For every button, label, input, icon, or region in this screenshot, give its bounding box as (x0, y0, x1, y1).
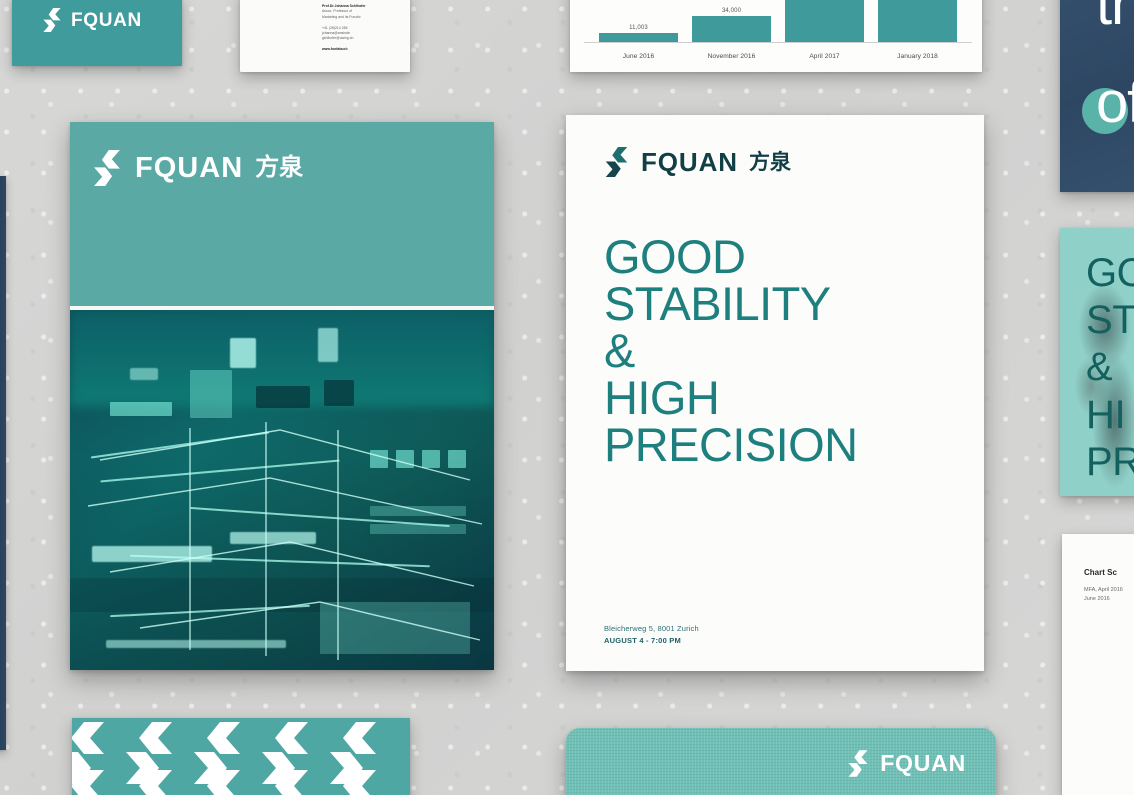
poster-footer: Bleicherweg 5, 8001 Zurich AUGUST 4 - 7:… (604, 624, 699, 645)
poster-headline: GOOD STABILITY & HIGH PRECISION (604, 233, 960, 468)
event-poster[interactable]: FQUAN 方泉 GOOD STABILITY & HIGH PRECISION… (566, 115, 984, 671)
chart-sheet-title: Chart Sc (1084, 568, 1117, 577)
double-chevron-logo-mark (42, 8, 62, 32)
double-chevron-logo-mark (847, 750, 869, 777)
business-card-front[interactable]: FQUAN (12, 0, 182, 66)
bar-chart-card[interactable]: 11,00334,000 June 2016November 2016April… (570, 0, 982, 72)
navy-text-line-1: th (1096, 0, 1134, 31)
chart-bar (878, 0, 956, 42)
logo-lockup: FQUAN 方泉 (604, 147, 791, 177)
card-heading: Technology Ltd. (258, 0, 310, 1)
logo-wordmark: FQUAN (135, 154, 243, 183)
chart-sheet-subtitle: MFA, April 2016 June 2016 (1084, 586, 1123, 605)
chart-category-label: January 2018 (878, 53, 956, 60)
chart-sheet-cropped[interactable]: Chart Sc MFA, April 2016 June 2016 (1062, 534, 1134, 795)
navy-text-line-2: of (1096, 76, 1134, 129)
chart-bar (692, 16, 770, 42)
brochure-cover[interactable]: FQUAN 方泉 (70, 122, 494, 670)
logo-wordmark: FQUAN (880, 752, 966, 775)
chart-plot-area: 11,00334,000 (592, 0, 964, 42)
logo-wordmark-cn: 方泉 (255, 156, 303, 180)
chart-bar-value-label: 34,000 (722, 8, 741, 14)
teal-poster-headline: GO ST & HI PR (1086, 250, 1134, 486)
mockup-scene: FQUAN Technology Ltd. Prof.Dr.Johanna Sc… (0, 0, 1134, 795)
chart-bar-group (785, 0, 863, 42)
poster-address: Bleicherweg 5, 8001 Zurich (604, 624, 699, 633)
pattern-card[interactable] (72, 718, 410, 795)
chart-bar (785, 0, 863, 42)
chart-bar-group: 34,000 (692, 0, 770, 42)
circuit-board-photo (70, 310, 494, 670)
chart-axis-line (584, 42, 972, 43)
logo-wordmark: FQUAN (71, 11, 142, 30)
chart-category-label: April 2017 (785, 53, 863, 60)
logo-wordmark: FQUAN (641, 149, 738, 175)
teal-poster-cropped[interactable]: GO ST & HI PR (1060, 228, 1134, 496)
card-heading-block: Technology Ltd. (258, 0, 310, 1)
double-chevron-logo-mark (604, 147, 629, 177)
navy-edge-sliver (0, 176, 6, 750)
presentation-folder[interactable]: FQUAN (566, 728, 996, 795)
double-chevron-logo-mark (92, 150, 122, 186)
card-website: www.fonfabuch (322, 47, 400, 52)
poster-datetime: AUGUST 4 - 7:00 PM (604, 636, 699, 645)
logo-wordmark-cn: 方泉 (749, 152, 791, 173)
logo-pattern-motif (72, 718, 410, 795)
chart-bars: 11,00334,000 (592, 0, 964, 42)
logo-lockup: FQUAN (847, 750, 966, 777)
chart-bar (599, 33, 677, 42)
logo-lockup: FQUAN 方泉 (92, 150, 303, 186)
chart-category-label: November 2016 (692, 53, 770, 60)
photo-wire-overlay (70, 310, 494, 670)
card-details-block: Prof.Dr.Johanna Schlhofer Assoc. Profess… (322, 4, 400, 52)
business-card-back[interactable]: Technology Ltd. Prof.Dr.Johanna Schlhofe… (240, 0, 410, 72)
chart-category-labels: June 2016November 2016April 2017January … (592, 53, 964, 60)
photo-duotone-layer (70, 310, 494, 670)
chart-bar-group: 11,003 (599, 0, 677, 42)
logo-lockup: FQUAN (42, 8, 142, 32)
chart-category-label: June 2016 (599, 53, 677, 60)
chart-bar-value-label: 11,003 (629, 25, 648, 31)
navy-poster-panel[interactable]: th of (1060, 0, 1134, 192)
chart-bar-group (878, 0, 956, 42)
